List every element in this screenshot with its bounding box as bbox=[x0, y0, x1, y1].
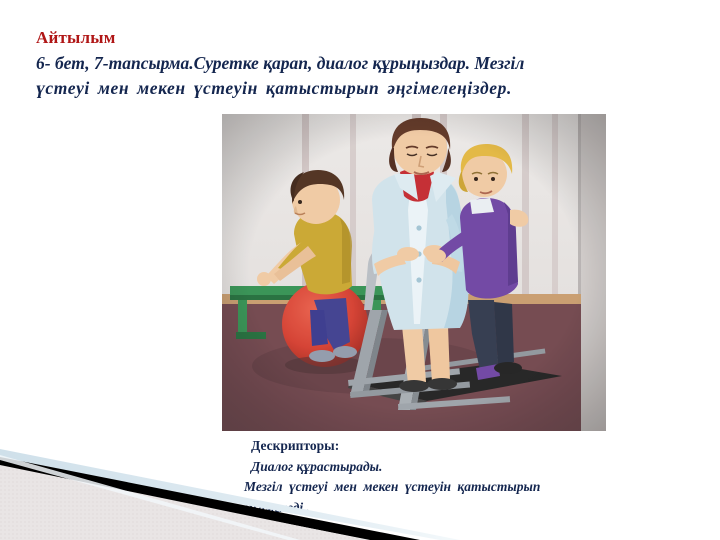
descriptor-item-2: Мезгіл үстеуі мен мекен үстеуін қатыстыр… bbox=[244, 477, 667, 498]
presentation-slide: Айтылым 6- бет, 7-тапсырма.Суретке қарап… bbox=[0, 0, 720, 540]
descriptor-item-1: Диалог құрастырады. bbox=[251, 457, 667, 478]
task-instruction: 6- бет, 7-тапсырма.Суретке қарап, диалог… bbox=[36, 51, 658, 101]
page-title: Айтылым bbox=[36, 27, 696, 50]
descriptor-item-3: әңгімеледі . bbox=[243, 498, 667, 519]
task-instruction-line-1: 6- бет, 7-тапсырма.Суретке қарап, диалог… bbox=[36, 53, 524, 73]
descriptors-block: Дескрипторы: Диалог құрастырады. Мезгіл … bbox=[247, 436, 667, 518]
task-instruction-line-2: үстеуі мен мекен үстеуін қатыстырып әңгі… bbox=[36, 76, 658, 101]
gym-scene-illustration bbox=[222, 114, 606, 431]
descriptors-heading: Дескрипторы: bbox=[251, 436, 667, 457]
header-text-block: Айтылым 6- бет, 7-тапсырма.Суретке қарап… bbox=[36, 27, 696, 101]
illustration-image bbox=[222, 114, 606, 431]
